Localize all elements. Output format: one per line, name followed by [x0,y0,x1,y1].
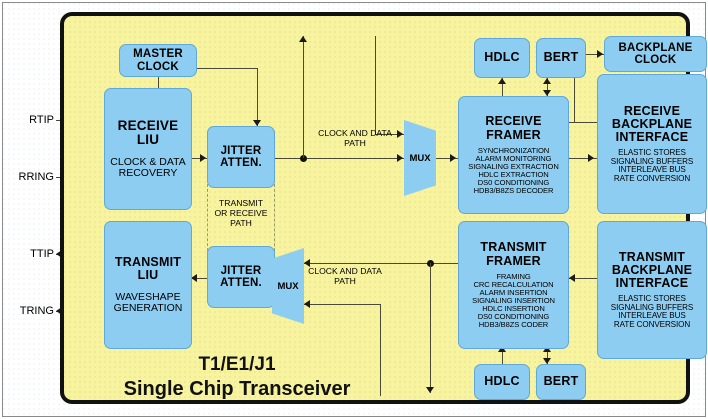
block-hdlc-transmit[interactable]: HDLC [474,364,530,400]
block-receive-backplane-interface[interactable]: RECEIVE BACKPLANE INTERFACE ELASTIC STOR… [597,74,707,214]
io-label-rring: RRING [2,171,54,184]
transmit-or-receive-path-label: TRANSMIT OR RECEIVE PATH [204,199,278,229]
receive-framer-feature-5: HDB3/B8ZS DECODER [474,187,554,195]
wire-mclk-down [257,68,258,126]
mux-transmit[interactable]: MUX [272,248,304,324]
cdp-rx-line2: PATH [310,139,400,149]
arrow-mux-tx-lower-in [304,300,310,308]
transmit-framer-feature-6: HDB3/B8ZS CODER [479,321,548,329]
block-receive-liu[interactable]: RECEIVE LIU CLOCK & DATA RECOVERY [104,88,192,210]
arrow-rx-junction-up [299,36,307,42]
bert-receive-label: BERT [544,51,579,64]
wire-jitter-to-mux-rx [274,158,404,159]
wire-txframer-to-mux [304,263,464,264]
io-label-tring: TRING [2,305,54,318]
block-jitter-atten-transmit[interactable]: JITTER ATTEN. [207,246,275,308]
arrow-rxframer-to-rxbp [588,154,594,162]
arrow-rxframer-to-hdlc [498,78,506,84]
wire-rx-junction-up [303,36,304,158]
bert-transmit-label: BERT [544,375,579,388]
hdlc-transmit-label: HDLC [484,375,520,388]
hdlc-receive-label: HDLC [484,51,520,64]
block-diagram-root: RTIP RRING TTIP TRING [0,0,708,419]
diagram-title-line1: T1/E1/J1 [92,354,382,377]
master-clock-line1: MASTER [133,48,183,60]
jitter-rx-line1: JITTER [221,145,262,157]
jitter-tx-line1: JITTER [221,265,262,277]
master-clock-line2: CLOCK [137,61,179,73]
receive-bp-line3: INTERFACE [616,131,689,144]
transmit-framer-line1: TRANSMIT [480,241,546,254]
clock-and-data-path-tx-label: CLOCK AND DATA PATH [300,267,390,287]
mux-receive[interactable]: MUX [404,120,436,196]
mux-receive-label: MUX [409,153,430,164]
diagram-title-line2: Single Chip Transceiver [92,377,382,401]
transmit-liu-sub2: GENERATION [114,303,183,314]
transmit-liu-line2: LIU [138,269,159,282]
transmit-framer-line2: FRAMER [486,255,541,268]
receive-bp-line1: RECEIVE [624,105,680,118]
block-receive-framer[interactable]: RECEIVE FRAMER SYNCHRONIZATION ALARM MON… [458,96,569,214]
arrow-rxliu-to-jitter [200,154,206,162]
transmit-bp-feature-3: RATE CONVERSION [614,321,690,329]
receive-bp-feature-3: RATE CONVERSION [614,175,690,183]
receive-framer-line2: FRAMER [486,129,541,142]
block-hdlc-receive[interactable]: HDLC [474,38,530,78]
wire-mclk-right [197,68,257,69]
block-bert-transmit[interactable]: BERT [536,364,586,400]
block-master-clock[interactable]: MASTER CLOCK [119,44,197,77]
block-transmit-liu[interactable]: TRANSMIT LIU WAVESHAPE GENERATION [104,221,192,349]
receive-framer-line1: RECEIVE [485,115,541,128]
arrow-to-backplane-clock [597,50,603,58]
arrow-into-mux-rx [397,154,403,162]
transmit-bp-line1: TRANSMIT [619,251,685,264]
jitter-rx-line2: ATTEN. [220,157,262,169]
wire-feedback-down [375,36,376,134]
backplane-clock-line1: BACKPLANE [619,42,693,54]
block-transmit-backplane-interface[interactable]: TRANSMIT BACKPLANE INTERFACE ELASTIC STO… [597,221,707,359]
block-bert-receive[interactable]: BERT [536,38,586,78]
receive-liu-sub2: RECOVERY [119,168,178,179]
receive-liu-line1: RECEIVE [118,119,179,133]
clock-and-data-path-rx-label: CLOCK AND DATA PATH [310,129,400,149]
receive-liu-line2: LIU [137,133,159,147]
arrow-rxframer-to-bert-up [543,78,551,84]
block-transmit-framer[interactable]: TRANSMIT FRAMER FRAMING CRC RECALCULATIO… [458,221,569,349]
block-jitter-atten-receive[interactable]: JITTER ATTEN. [207,126,275,188]
wire-mux-tx-lower-in [304,304,380,305]
transmit-liu-sub1: WAVESHAPE [115,292,180,303]
transmit-bp-line3: INTERFACE [616,277,689,290]
io-label-ttip: TTIP [6,248,54,261]
block-backplane-clock[interactable]: BACKPLANE CLOCK [604,36,707,72]
io-label-rtip: RTIP [6,114,54,127]
arrow-txbp-to-txframer [569,274,575,282]
chip-body: TRANSMIT OR RECEIVE PATH CLOCK AND DATA … [60,12,690,404]
cdp-tx-line2: PATH [300,277,390,287]
mux-transmit-label: MUX [277,281,298,292]
arrow-mux-to-rxframer [450,154,456,162]
diagram-title: T1/E1/J1 Single Chip Transceiver [92,354,382,401]
backplane-clock-line2: CLOCK [635,54,677,66]
arrow-tx-junction-down [426,387,434,393]
tor-line3: PATH [204,219,278,229]
wire-tx-junction-down [430,263,431,393]
jitter-tx-line2: ATTEN. [220,277,262,289]
